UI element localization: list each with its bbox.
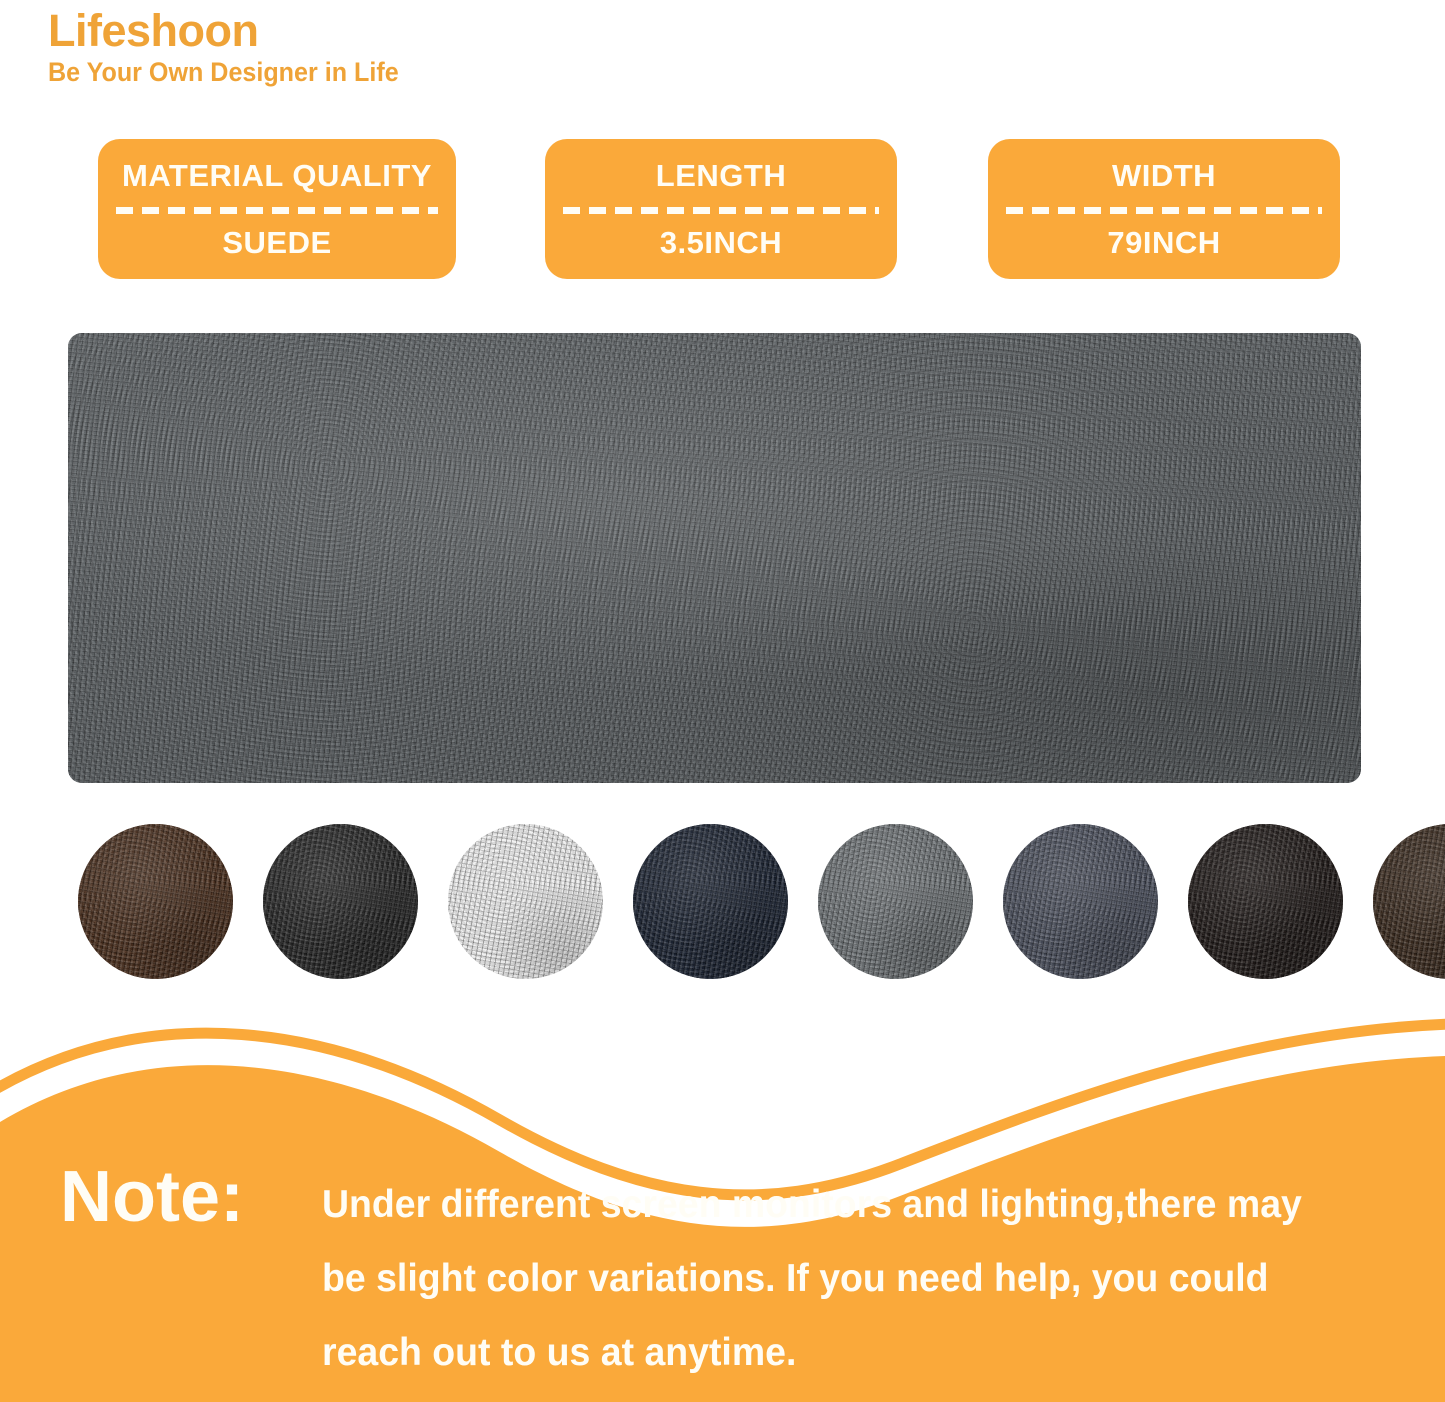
- note-label: Note:: [60, 1158, 244, 1236]
- color-swatch-navy-blue[interactable]: [633, 824, 788, 979]
- spec-badge-value: SUEDE: [222, 225, 331, 261]
- spec-badge-value: 79INCH: [1107, 225, 1220, 261]
- color-swatch-dark-brown[interactable]: [78, 824, 233, 979]
- color-swatch-off-white[interactable]: [448, 824, 603, 979]
- note-body-text: Under different screen monitors and ligh…: [322, 1168, 1354, 1390]
- dashed-divider-icon: [116, 207, 438, 214]
- brand-tagline: Be Your Own Designer in Life: [48, 56, 606, 88]
- color-swatch-coffee-brown[interactable]: [1373, 824, 1445, 979]
- swatch-sheen: [1188, 824, 1343, 979]
- swatch-sheen: [448, 824, 603, 979]
- note-section: Note: Under different screen monitors an…: [0, 1018, 1445, 1402]
- dashed-divider-icon: [1006, 207, 1322, 214]
- swatch-sheen: [78, 824, 233, 979]
- spec-badge-material-quality: MATERIAL QUALITY SUEDE: [98, 139, 456, 279]
- swatch-sheen: [1373, 824, 1445, 979]
- swatch-sheen: [818, 824, 973, 979]
- color-swatch-row: [0, 824, 1445, 984]
- spec-badge-width: WIDTH 79INCH: [988, 139, 1340, 279]
- spec-badge-length: LENGTH 3.5INCH: [545, 139, 897, 279]
- brand-header: Lifeshoon Be Your Own Designer in Life: [48, 6, 648, 88]
- spec-badge-title: WIDTH: [1112, 158, 1216, 194]
- brand-name: Lifeshoon: [48, 6, 648, 56]
- swatch-sheen: [1003, 824, 1158, 979]
- spec-badge-title: LENGTH: [656, 158, 786, 194]
- spec-badge-title: MATERIAL QUALITY: [122, 158, 432, 194]
- swatch-sheen: [263, 824, 418, 979]
- color-swatch-black-brown[interactable]: [1188, 824, 1343, 979]
- color-swatch-medium-grey[interactable]: [818, 824, 973, 979]
- rug-sheen: [68, 333, 1361, 783]
- spec-badge-row: MATERIAL QUALITY SUEDE LENGTH 3.5INCH WI…: [0, 139, 1445, 284]
- color-swatch-charcoal-black[interactable]: [263, 824, 418, 979]
- spec-badge-value: 3.5INCH: [660, 225, 782, 261]
- color-swatch-slate-blue-grey[interactable]: [1003, 824, 1158, 979]
- swatch-sheen: [633, 824, 788, 979]
- note-panel: Note: Under different screen monitors an…: [0, 1140, 1445, 1402]
- product-image-rug: [68, 333, 1361, 783]
- dashed-divider-icon: [563, 207, 879, 214]
